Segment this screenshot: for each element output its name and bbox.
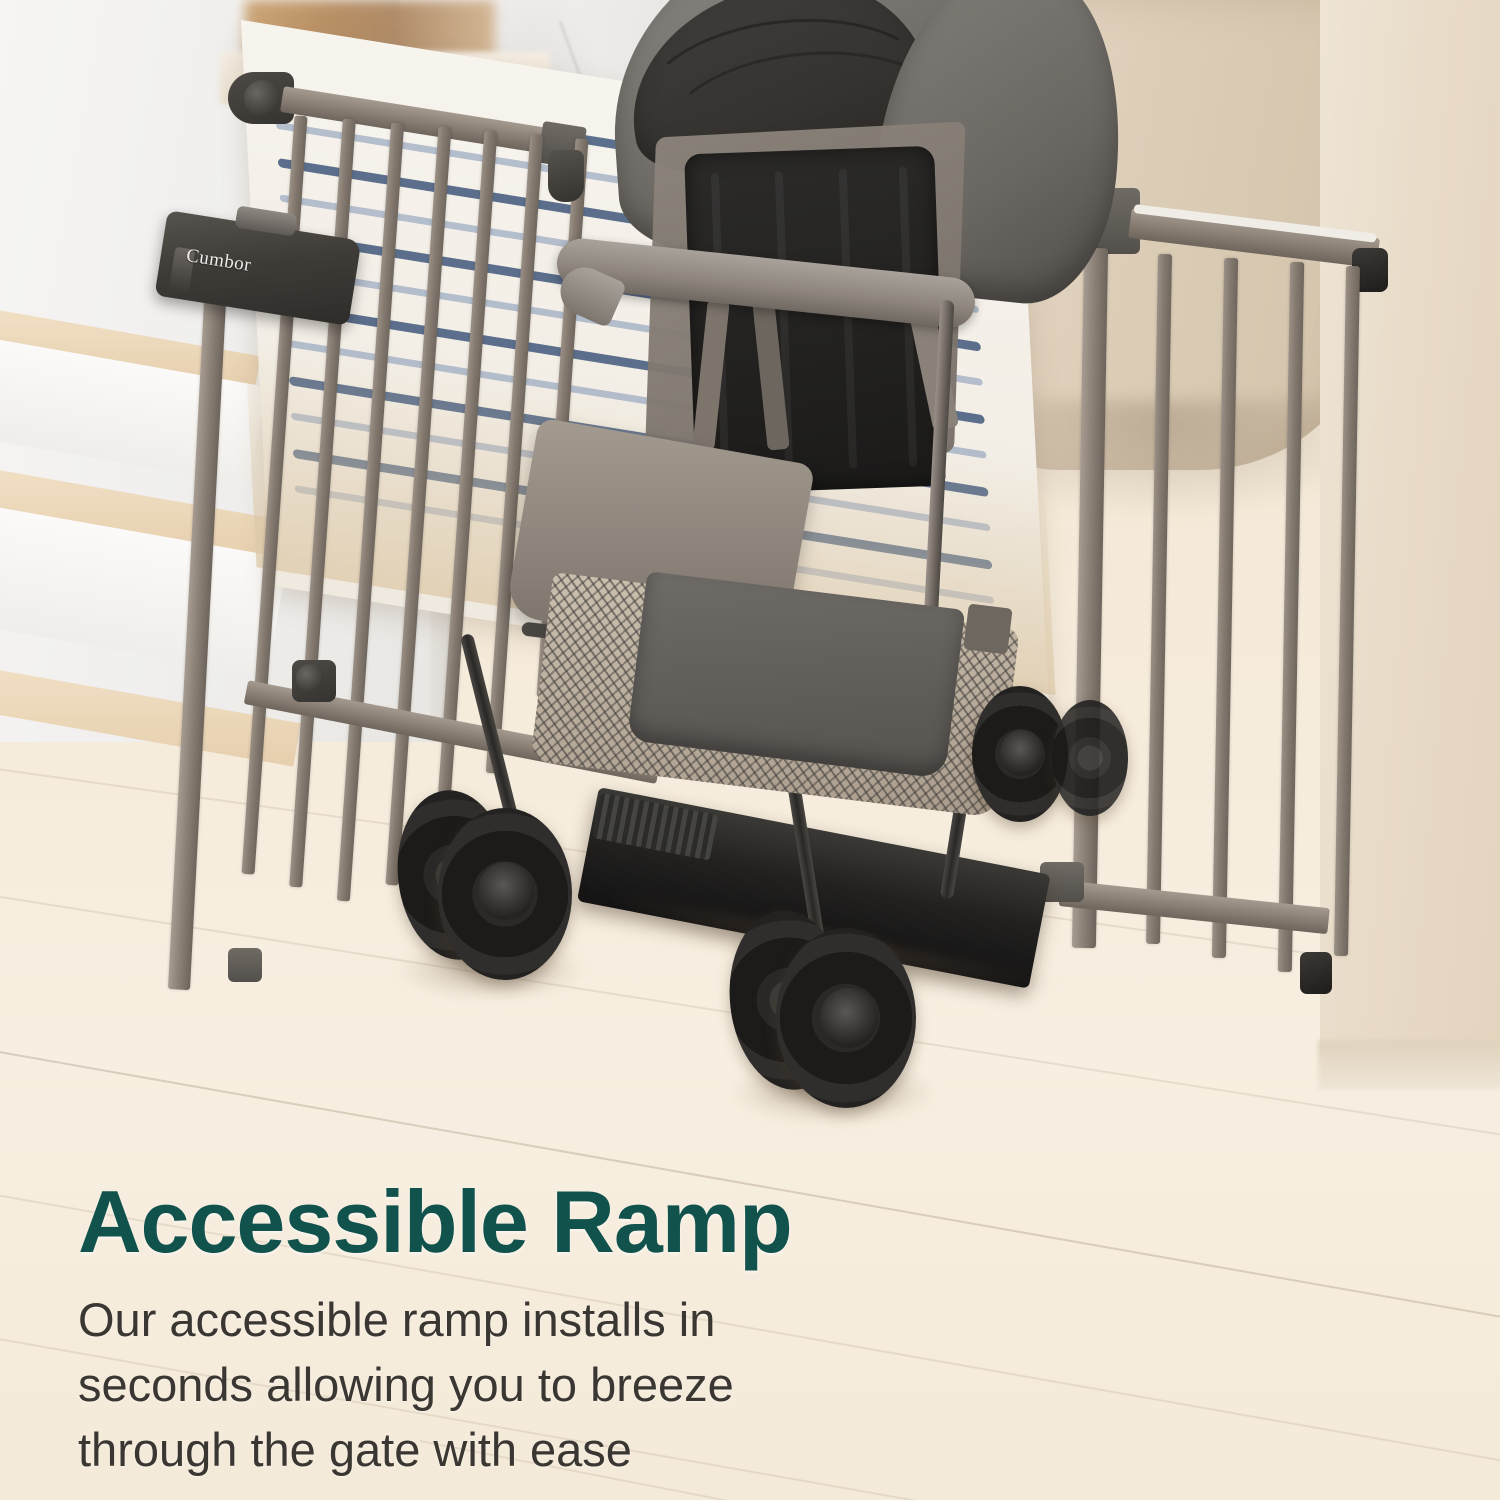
- wheel-hub: [1000, 730, 1044, 776]
- wheel-hub: [820, 988, 878, 1048]
- latch-receiver: [548, 150, 584, 202]
- bottom-pressure-knob[interactable]: [1300, 952, 1332, 994]
- bottom-hinge-knob[interactable]: [296, 664, 324, 692]
- page-subtitle: Our accessible ramp installs in seconds …: [78, 1288, 878, 1483]
- product-scene: Cumbor: [0, 0, 1500, 1500]
- subtitle-line-1: Our accessible ramp installs in: [78, 1288, 878, 1353]
- subtitle-line-3: through the gate with ease: [78, 1418, 878, 1483]
- wheel-hub: [478, 862, 534, 920]
- basket-tab: [963, 603, 1012, 654]
- baseboard: [1318, 1040, 1500, 1090]
- page-title: Accessible Ramp: [78, 1178, 792, 1266]
- stroller-wheel: [1052, 700, 1128, 816]
- top-hinge-knob[interactable]: [244, 80, 280, 116]
- subtitle-line-2: seconds allowing you to breeze: [78, 1353, 878, 1418]
- gate-foot-cap: [228, 948, 262, 982]
